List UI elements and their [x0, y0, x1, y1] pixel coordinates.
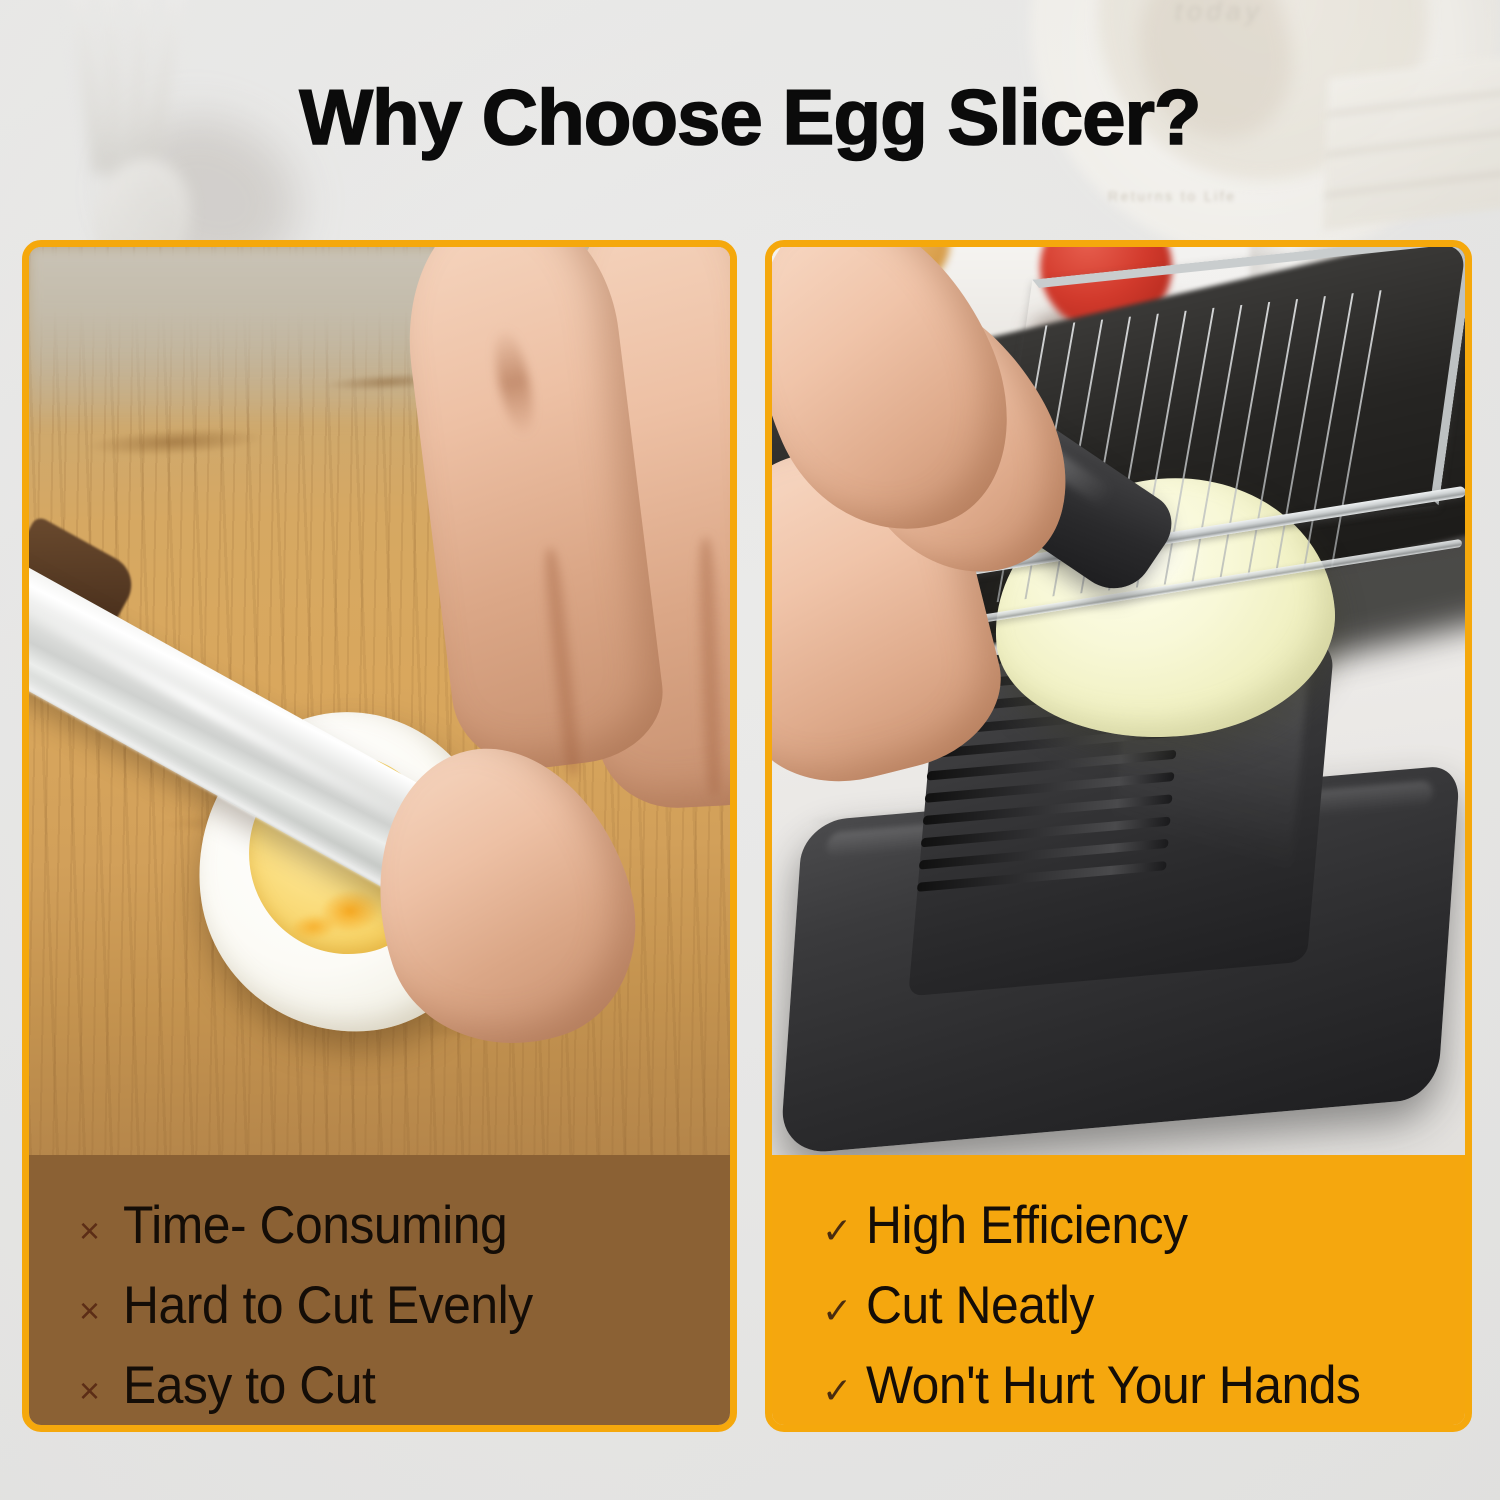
feature-item: × Easy to Cut — [79, 1359, 730, 1413]
feature-label: Cut Neatly — [866, 1279, 1094, 1333]
check-icon: ✓ — [822, 1213, 866, 1249]
feature-item: ✓ Won't Hurt Your Hands — [822, 1359, 1465, 1413]
cutting-wire — [1303, 293, 1354, 570]
photo-egg-slicer-in-use — [772, 247, 1465, 1155]
cutting-wire — [1247, 299, 1298, 576]
check-icon: ✓ — [822, 1293, 866, 1329]
yolk-spot — [290, 912, 338, 943]
page-title: Why Choose Egg Slicer? — [0, 78, 1500, 156]
comparison-panel-slicer: ✓ High Efficiency ✓ Cut Neatly ✓ Won't H… — [765, 240, 1472, 1432]
cutting-wire — [1275, 296, 1326, 573]
caption-cons: × Time- Consuming × Hard to Cut Evenly ×… — [29, 1155, 730, 1432]
cross-icon: × — [79, 1293, 123, 1329]
cutting-wire — [1331, 290, 1382, 567]
caption-pros: ✓ High Efficiency ✓ Cut Neatly ✓ Won't H… — [772, 1155, 1465, 1432]
feature-label: High Efficiency — [866, 1199, 1188, 1253]
check-icon: ✓ — [822, 1373, 866, 1409]
cutting-wire — [1192, 305, 1243, 582]
feature-label: Easy to Cut — [123, 1359, 375, 1413]
feature-label: Won't Hurt Your Hands — [866, 1359, 1360, 1413]
feature-item: ✓ High Efficiency — [822, 1199, 1465, 1253]
comparison-panel-knife: × Time- Consuming × Hard to Cut Evenly ×… — [22, 240, 737, 1432]
feature-label: Time- Consuming — [123, 1199, 507, 1253]
cross-icon: × — [79, 1373, 123, 1409]
feature-item: ✓ Cut Neatly — [822, 1279, 1465, 1333]
cross-icon: × — [79, 1213, 123, 1249]
feature-item: × Time- Consuming — [79, 1199, 730, 1253]
photo-knife-cutting-egg — [29, 247, 730, 1155]
cutting-wire — [1219, 302, 1270, 579]
feature-item: × Hard to Cut Evenly — [79, 1279, 730, 1333]
feature-label: Hard to Cut Evenly — [123, 1279, 533, 1333]
